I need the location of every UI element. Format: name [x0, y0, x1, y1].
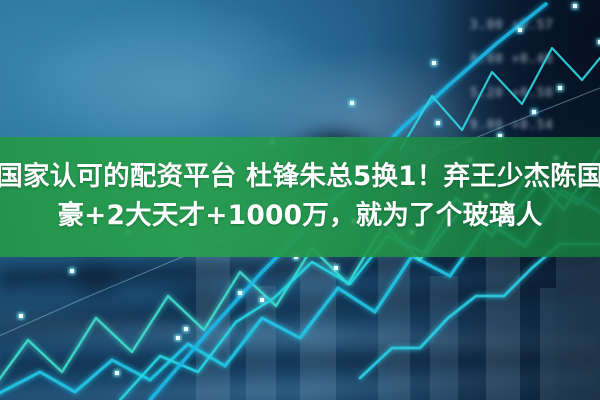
- headline-text-block: 国家认可的配资平台 杜锋朱总5换1！弃王少杰陈国 豪+2大天才+1000万，就为…: [0, 137, 600, 257]
- data-point-node: [70, 269, 74, 273]
- headline-line-1: 国家认可的配资平台 杜锋朱总5换1！弃王少杰陈国: [0, 158, 600, 197]
- chart-series: [360, 244, 600, 378]
- data-point-node: [518, 28, 522, 32]
- data-point-node: [19, 314, 23, 318]
- data-point-node: [115, 371, 119, 375]
- data-point-node: [184, 327, 188, 331]
- data-point-node: [238, 291, 242, 295]
- data-point-node: [176, 336, 180, 340]
- banner-image: 3.00 +0.57 8.00 +0.40 5.20 +0.50 9.00 +0…: [0, 0, 600, 400]
- data-point-node: [334, 266, 338, 270]
- data-point-node: [436, 121, 440, 125]
- data-point-node: [350, 101, 354, 105]
- headline-line-2: 豪+2大天才+1000万，就为了个玻璃人: [57, 197, 542, 236]
- data-point-node: [260, 298, 264, 302]
- data-point-node: [532, 110, 536, 114]
- data-point-node: [432, 61, 436, 65]
- data-point-node: [573, 4, 577, 8]
- data-point-node: [558, 86, 562, 90]
